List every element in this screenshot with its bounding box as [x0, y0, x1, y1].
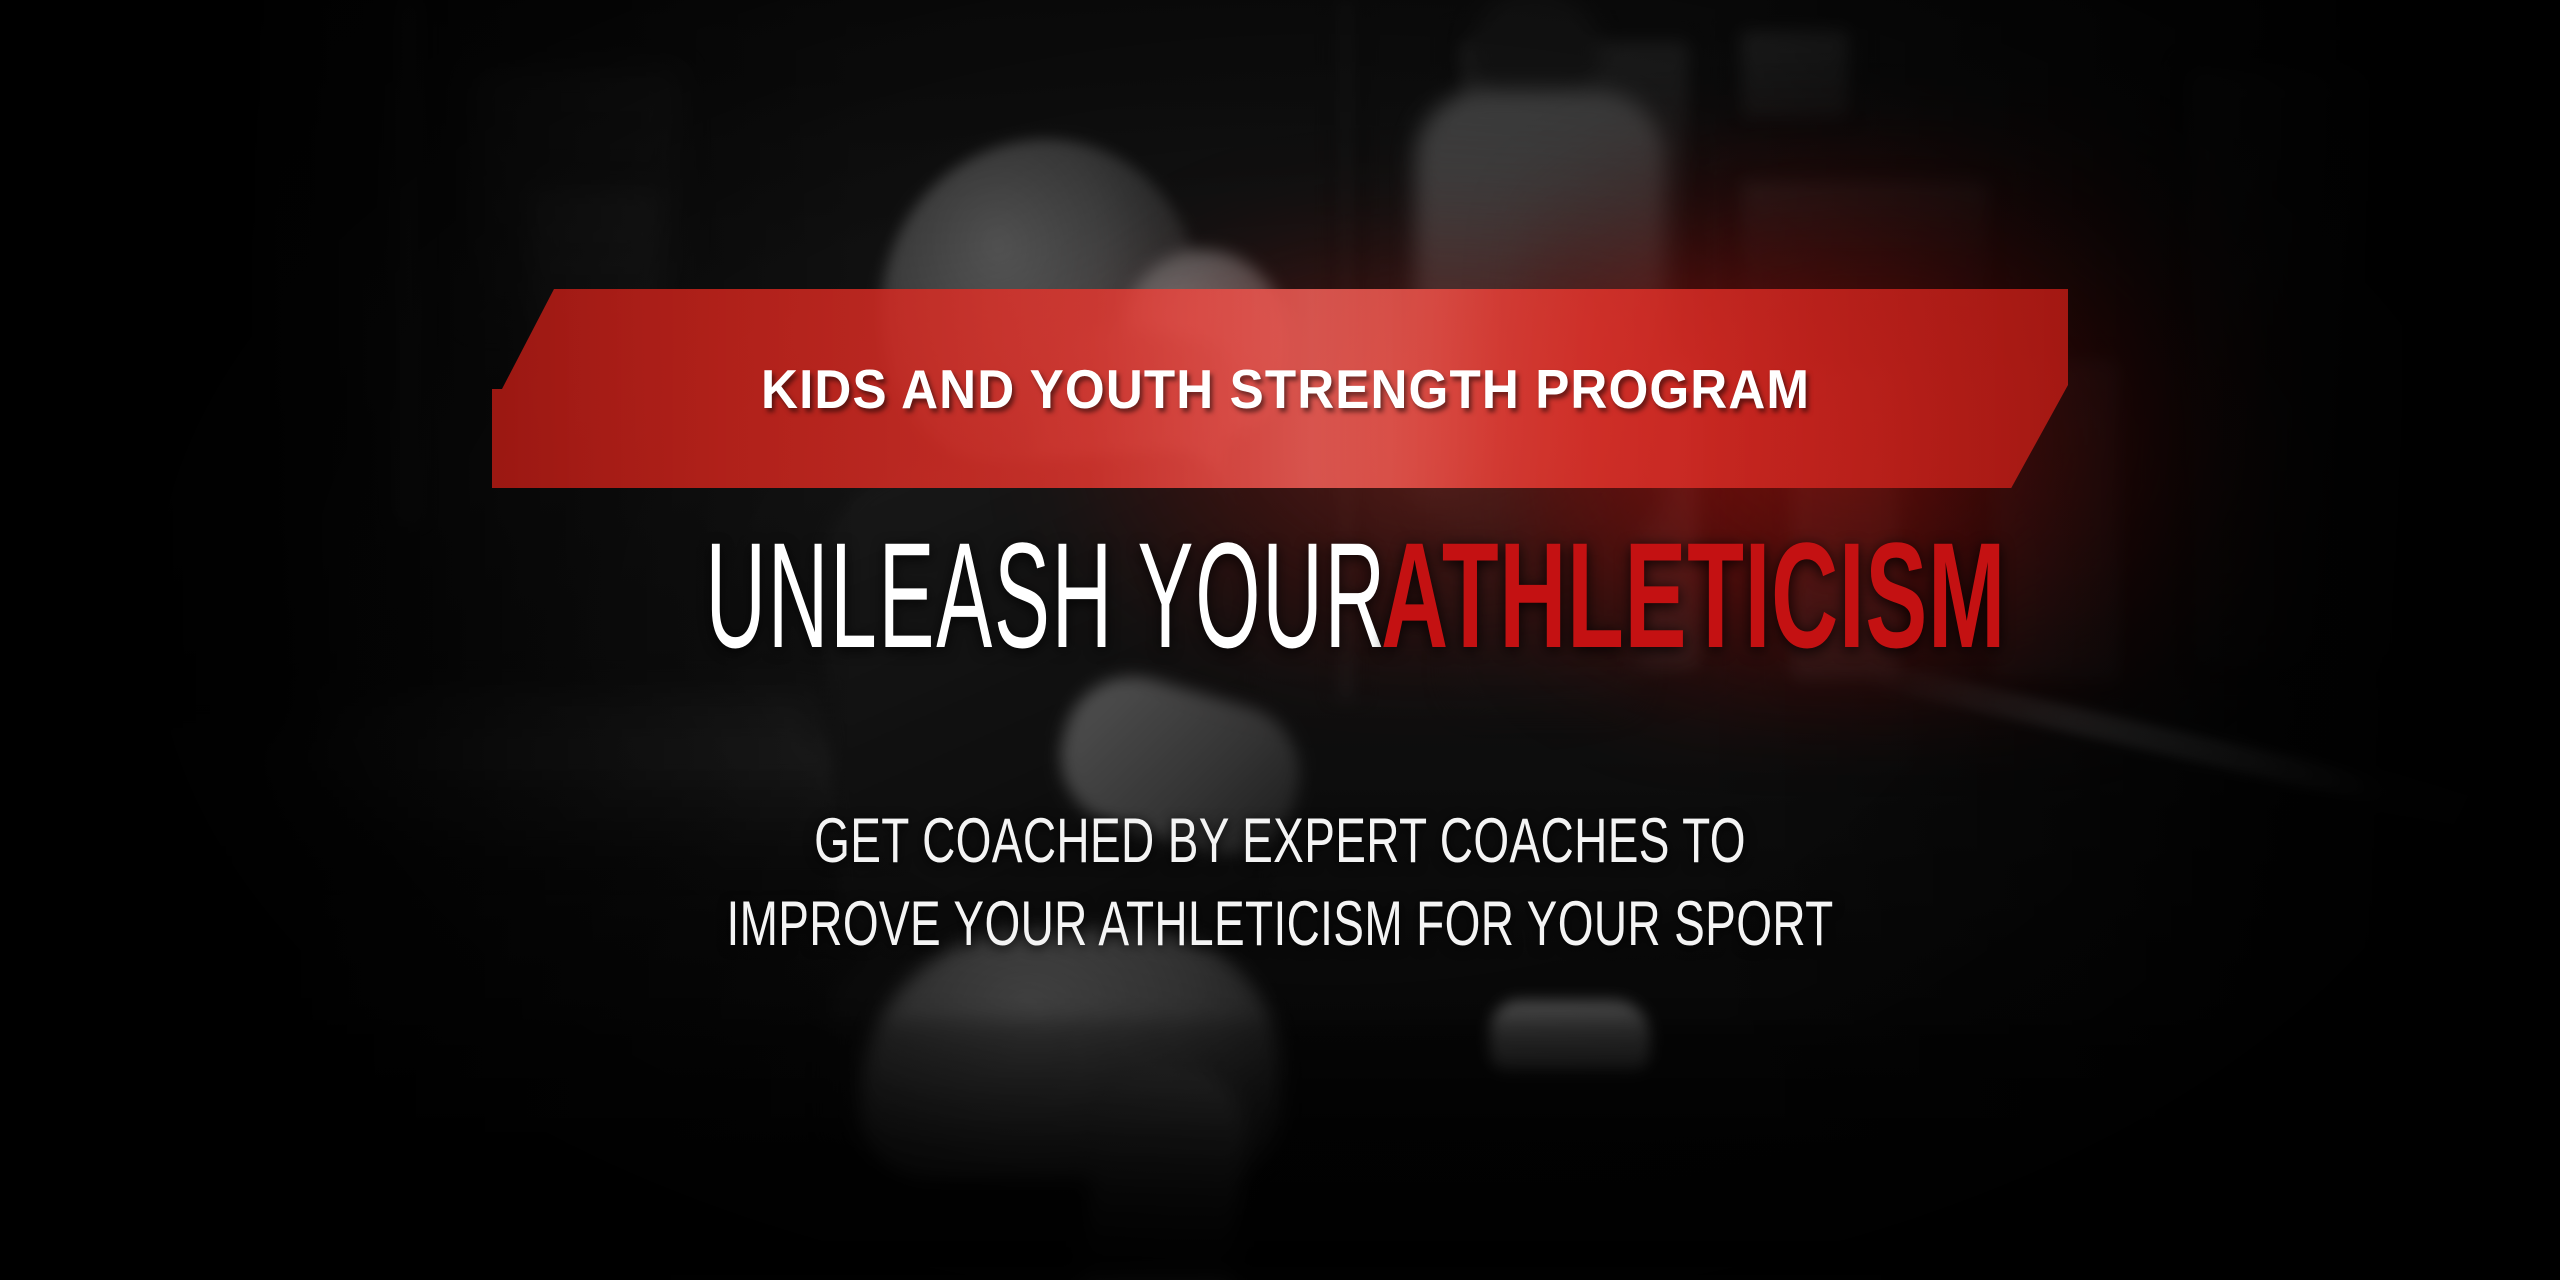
headline-white-part: UNLEASH YOUR: [706, 520, 1387, 670]
subtitle-line-2: IMPROVE YOUR ATHLETICISM FOR YOUR SPORT: [346, 883, 2215, 966]
page-title: UNLEASH YOUR ATHLETICISM: [0, 520, 2560, 670]
program-banner-label: KIDS AND YOUTH STRENGTH PROGRAM: [547, 289, 2013, 488]
hero-banner: KIDS AND YOUTH STRENGTH PROGRAM UNLEASH …: [0, 0, 2560, 1280]
program-banner: KIDS AND YOUTH STRENGTH PROGRAM: [492, 289, 2068, 488]
hero-subtitle: GET COACHED BY EXPERT COACHES TO IMPROVE…: [0, 800, 2560, 966]
subtitle-line-1: GET COACHED BY EXPERT COACHES TO: [346, 800, 2215, 883]
hero-content: KIDS AND YOUTH STRENGTH PROGRAM UNLEASH …: [0, 0, 2560, 1280]
headline-red-part: ATHLETICISM: [1381, 520, 2006, 670]
